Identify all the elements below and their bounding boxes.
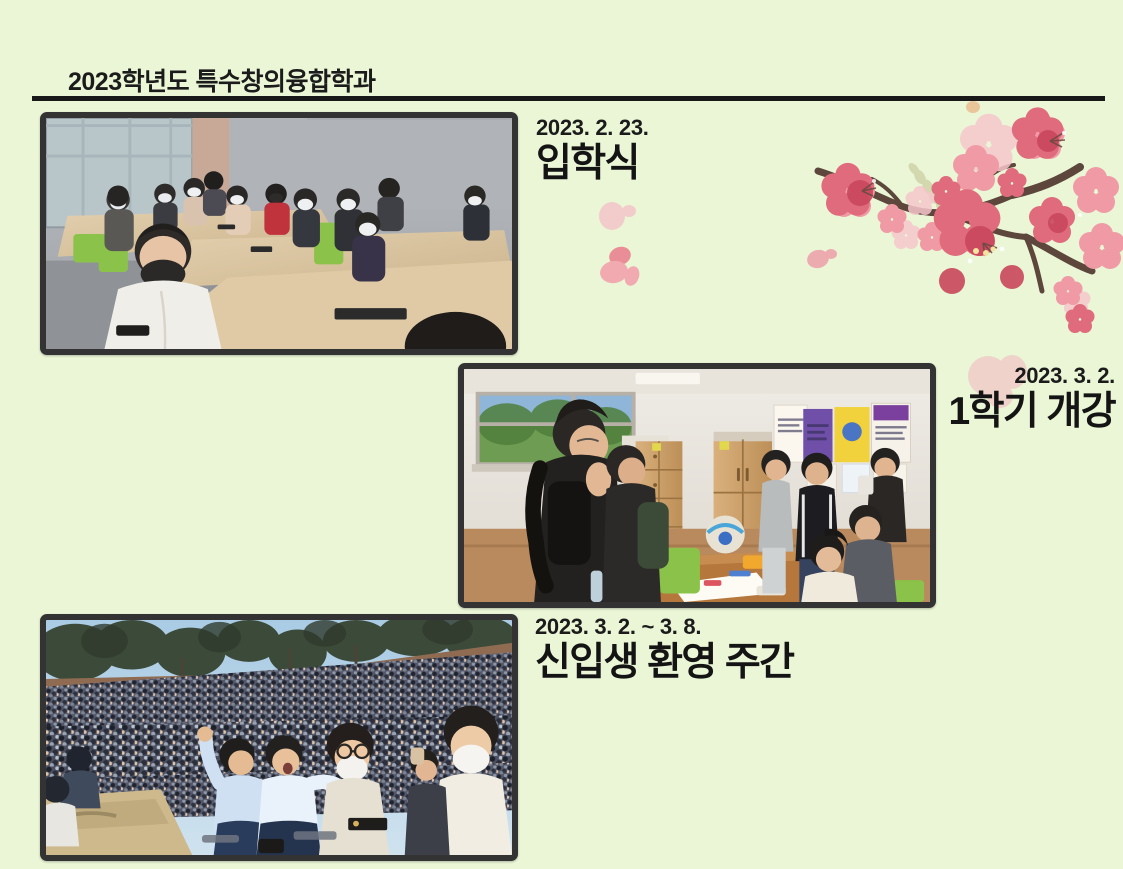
event-photo-welcome[interactable]	[40, 614, 518, 861]
event-caption-semester: 2023. 3. 2. 1학기 개강	[949, 364, 1115, 434]
event-caption-welcome: 2023. 3. 2. ~ 3. 8. 신입생 환영 주간	[535, 615, 793, 685]
event-name: 신입생 환영 주간	[535, 641, 793, 685]
event-caption-entrance: 2023. 2. 23. 입학식	[536, 116, 649, 186]
event-name: 입학식	[536, 142, 649, 186]
event-date: 2023. 3. 2. ~ 3. 8.	[535, 615, 793, 639]
event-name: 1학기 개강	[949, 390, 1115, 434]
falling-petal-icon	[600, 245, 646, 289]
photo-image-welcome	[46, 620, 512, 855]
page-title: 2023학년도 특수창의융합학과	[68, 62, 376, 98]
event-date: 2023. 3. 2.	[949, 364, 1115, 388]
photo-image-semester	[464, 369, 930, 602]
event-date: 2023. 2. 23.	[536, 116, 649, 140]
falling-petal-icon	[596, 198, 638, 238]
title-divider	[32, 96, 1105, 101]
event-photo-semester[interactable]	[458, 363, 936, 608]
event-photo-entrance[interactable]	[40, 112, 518, 355]
cherry-blossom-icon	[780, 95, 1123, 360]
slide-canvas: 2023학년도 특수창의융합학과	[0, 0, 1123, 869]
photo-image-entrance	[46, 118, 512, 349]
falling-petal-icon	[806, 243, 840, 275]
